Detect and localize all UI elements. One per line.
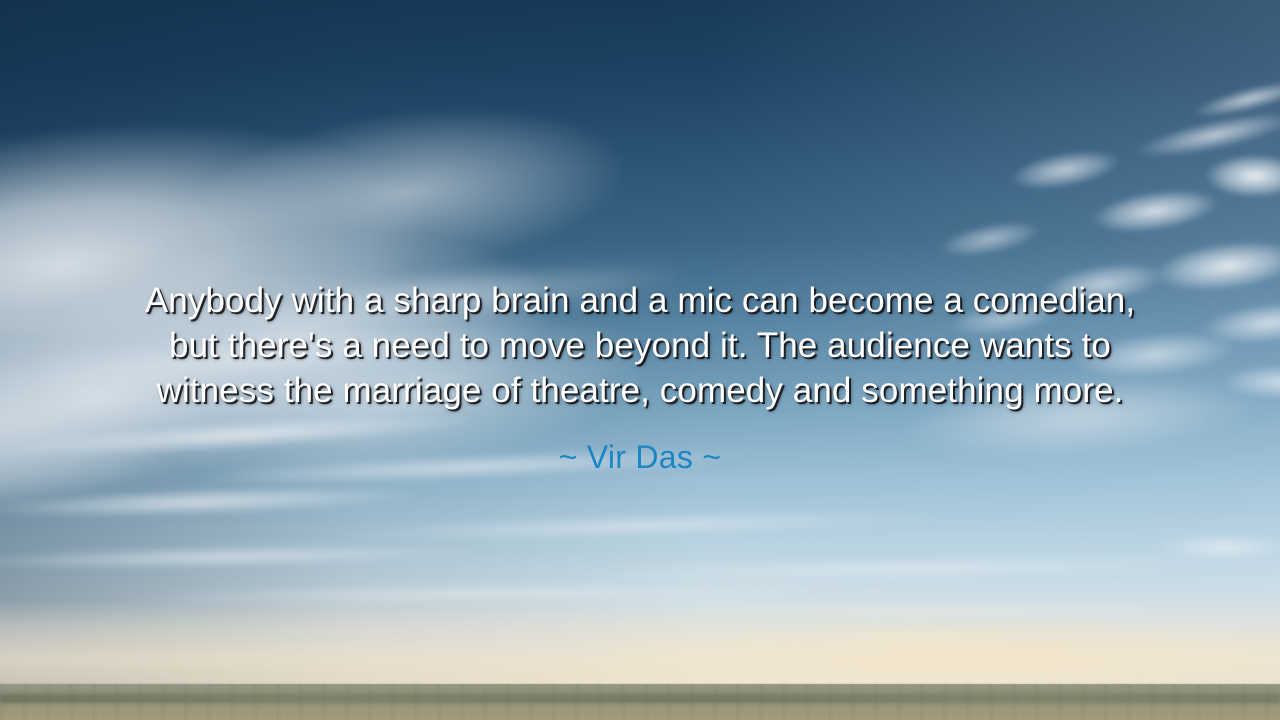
quote-line-3: witness the marriage of theatre, comedy … — [36, 368, 1244, 413]
cloud-puff-right-2 — [1078, 178, 1233, 244]
cloud-puff-lower-2 — [760, 628, 1060, 650]
distant-treeline — [0, 694, 1280, 703]
quote-image-canvas: Anybody with a sharp brain and a mic can… — [0, 0, 1280, 720]
cloud-puff-right-6 — [928, 211, 1052, 267]
quote-attribution: ~ Vir Das ~ — [0, 437, 1280, 477]
quote-text-block: Anybody with a sharp brain and a mic can… — [0, 278, 1280, 413]
cloud-puff-right-3 — [998, 139, 1133, 201]
quote-line-2: but there's a need to move beyond it. Th… — [36, 323, 1244, 368]
quote-line-1: Anybody with a sharp brain and a mic can… — [36, 278, 1244, 323]
